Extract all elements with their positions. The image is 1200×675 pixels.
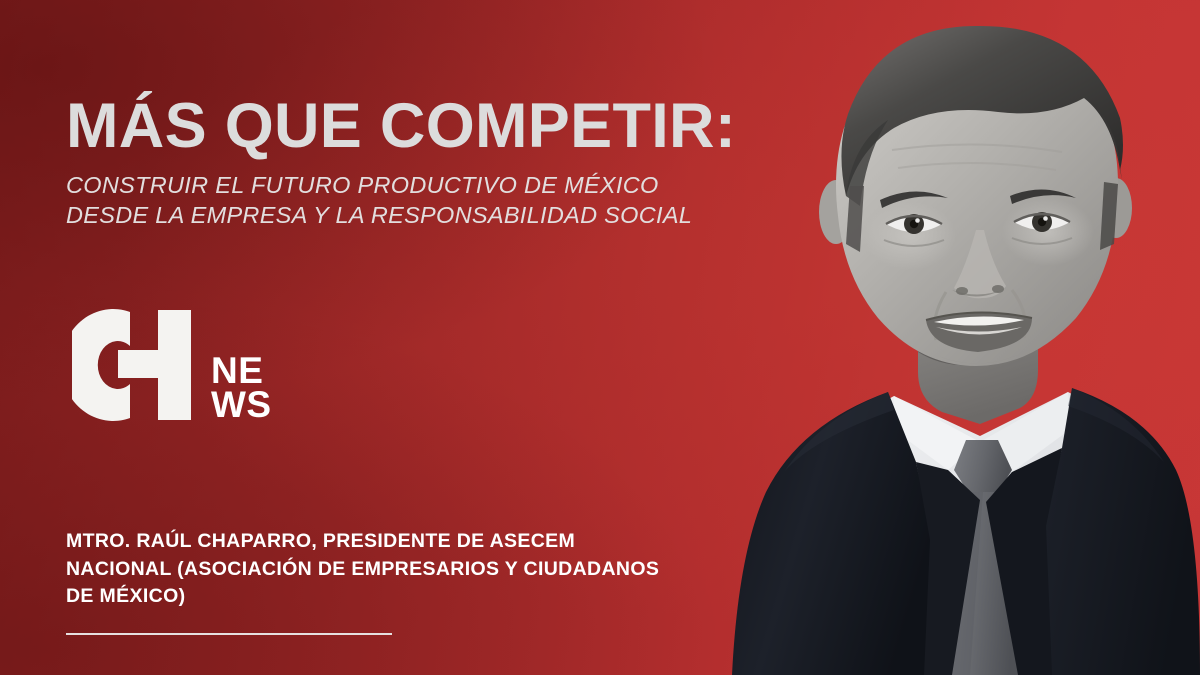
- logo-news-line-2: WS: [211, 388, 272, 422]
- logo-news-line-1: NE: [211, 354, 272, 388]
- subtitle-line-1: CONSTRUIR EL FUTURO PRODUCTIVO DE MÉXICO: [66, 170, 856, 200]
- caption-line-2: NACIONAL (ASOCIACIÓN DE EMPRESARIOS Y CI…: [66, 556, 706, 584]
- speaker-caption-block: MTRO. RAÚL CHAPARRO, PRESIDENTE DE ASECE…: [66, 528, 706, 635]
- news-banner-slide: MÁS QUE COMPETIR: CONSTRUIR EL FUTURO PR…: [0, 0, 1200, 675]
- ch-monogram-icon: [72, 306, 207, 424]
- caption-line-3: DE MÉXICO): [66, 583, 706, 611]
- caption-divider: [66, 633, 392, 635]
- page-subtitle: CONSTRUIR EL FUTURO PRODUCTIVO DE MÉXICO…: [66, 170, 856, 230]
- logo-news-wordmark: NE WS: [211, 354, 272, 422]
- speaker-caption: MTRO. RAÚL CHAPARRO, PRESIDENTE DE ASECE…: [66, 528, 706, 611]
- page-title: MÁS QUE COMPETIR:: [66, 96, 856, 158]
- ch-news-logo: NE WS: [72, 306, 287, 431]
- headline-block: MÁS QUE COMPETIR: CONSTRUIR EL FUTURO PR…: [66, 96, 856, 230]
- subtitle-line-2: DESDE LA EMPRESA Y LA RESPONSABILIDAD SO…: [66, 200, 856, 230]
- caption-line-1: MTRO. RAÚL CHAPARRO, PRESIDENTE DE ASECE…: [66, 528, 706, 556]
